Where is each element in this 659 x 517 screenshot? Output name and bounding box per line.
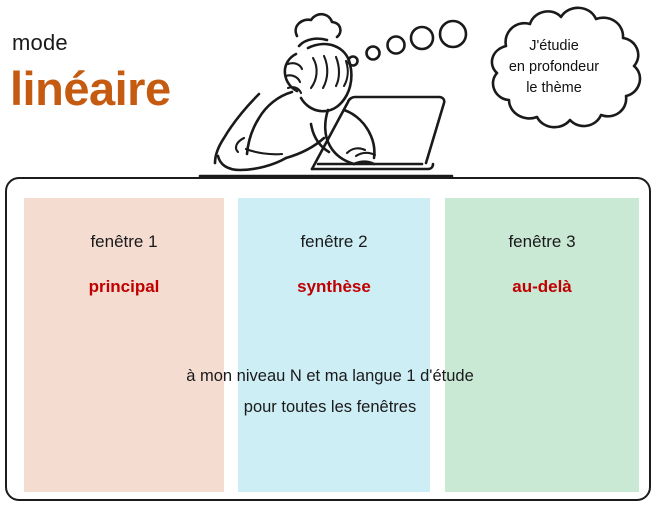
window-column-1-value: principal (24, 276, 224, 298)
window-column-3-value: au-delà (445, 276, 639, 298)
window-column-1[interactable]: fenêtre 1 principal (24, 198, 224, 492)
mode-label: mode (12, 30, 68, 56)
thought-bubble-text: J'étudie en profondeur le thème (478, 36, 630, 99)
window-column-1-label: fenêtre 1 (24, 231, 224, 253)
page-title: linéaire (10, 61, 171, 116)
window-column-3-label: fenêtre 3 (445, 231, 639, 253)
window-column-2-value: synthèse (238, 276, 430, 298)
window-column-2-label: fenêtre 2 (238, 231, 430, 253)
header-area: mode linéaire (0, 0, 659, 178)
windows-panel: fenêtre 1 principal fenêtre 2 synthèse f… (5, 177, 651, 501)
window-column-3[interactable]: fenêtre 3 au-delà (445, 198, 639, 492)
window-column-2[interactable]: fenêtre 2 synthèse (238, 198, 430, 492)
